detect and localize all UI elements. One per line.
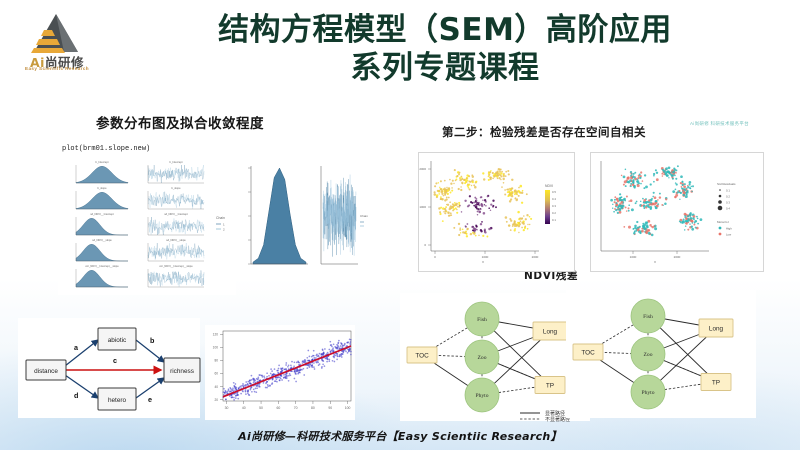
svg-text:Chain: Chain	[216, 216, 225, 220]
edge-label-d: d	[74, 391, 78, 400]
svg-text:80: 80	[214, 359, 218, 363]
slide-canvas: Ai尚研修 Easy Scientific Research 结构方程模型（SE…	[0, 0, 800, 450]
svg-text:sd_NDVI__slope: sd_NDVI__slope	[166, 238, 186, 242]
svg-text:High: High	[726, 227, 732, 231]
svg-text:100: 100	[213, 346, 219, 350]
logo-tagline: Easy Scientific Research	[18, 66, 96, 71]
right-section-heading: 第二步：检验残差是否存在空间自相关	[442, 124, 646, 140]
svg-text:0.3: 0.3	[552, 204, 556, 208]
svg-text:40: 40	[214, 385, 218, 389]
svg-text:30: 30	[225, 406, 229, 410]
node-richness: richness	[170, 368, 194, 375]
svg-text:70: 70	[294, 406, 298, 410]
svg-text:90: 90	[328, 406, 332, 410]
node-hetero: hetero	[108, 397, 127, 404]
svg-text:40: 40	[242, 406, 246, 410]
svg-text:x: x	[654, 260, 656, 264]
svg-text:1000: 1000	[419, 205, 426, 209]
svg-text:0.2: 0.2	[726, 195, 730, 199]
svg-text:Phyto: Phyto	[641, 390, 654, 396]
richness-distance-scatter: 30405060708090100 20406080100120	[205, 325, 355, 420]
svg-text:0.2: 0.2	[552, 211, 556, 215]
svg-text:b_Intercept: b_Intercept	[96, 160, 109, 164]
svg-text:b_Intercept: b_Intercept	[170, 160, 183, 164]
svg-text:TOC: TOC	[415, 352, 429, 359]
svg-text:100: 100	[345, 406, 351, 410]
brms-plot-grid: b_Interceptb_Interceptb_slopeb_slopesd_N…	[58, 155, 236, 295]
svg-text:60: 60	[214, 372, 218, 376]
node-distance: distance	[34, 368, 58, 375]
edge-label-e: e	[148, 395, 152, 404]
page-title-line2: 系列专题课程	[100, 50, 790, 88]
node-abiotic: abiotic	[108, 337, 127, 344]
svg-text:b_slope: b_slope	[171, 186, 181, 190]
svg-text:Phyto: Phyto	[475, 393, 488, 399]
svg-text:显著路径: 显著路径	[545, 410, 565, 417]
svg-text:Zoo: Zoo	[477, 355, 486, 361]
svg-text:TOC: TOC	[581, 349, 595, 356]
watermark-text: Ai尚研修 科研技术服务平台	[690, 121, 749, 127]
edge-label-b: b	[150, 336, 155, 345]
svg-text:cor_NDVI__Intercept__slope: cor_NDVI__Intercept__slope	[85, 264, 119, 268]
svg-text:TP: TP	[712, 379, 720, 386]
posterior-density-plot	[238, 160, 310, 275]
path-analysis-diagram: distance abiotic hetero richness a b c d…	[18, 318, 200, 418]
svg-text:NDVI: NDVI	[545, 184, 553, 188]
brand-logo: Ai尚研修 Easy Scientific Research	[18, 8, 96, 80]
svg-text:1000: 1000	[482, 255, 489, 259]
svg-text:TP: TP	[546, 382, 554, 389]
left-section-heading: 参数分布图及拟合收敛程度	[96, 112, 264, 132]
svg-text:80: 80	[311, 406, 315, 410]
footer-brand-text: Ai尚研修—科研技术服务平台【Easy Scientiic Research】	[0, 428, 800, 444]
r-code-label: plot(brm01.slope.new)	[62, 145, 150, 153]
svg-text:0.4: 0.4	[726, 207, 730, 211]
svg-text:0.1: 0.1	[726, 189, 730, 193]
svg-text:2000: 2000	[532, 255, 539, 259]
svg-text:2000: 2000	[674, 255, 681, 259]
svg-text:sd_NDVI__slope: sd_NDVI__slope	[92, 238, 112, 242]
svg-text:Std Residuals: Std Residuals	[717, 182, 736, 186]
svg-text:Zoo: Zoo	[643, 352, 652, 358]
svg-text:sd_NDVI__Intercept: sd_NDVI__Intercept	[164, 212, 188, 216]
svg-text:60: 60	[276, 406, 280, 410]
svg-text:120: 120	[213, 332, 219, 336]
svg-text:0.4: 0.4	[552, 197, 556, 201]
svg-text:cor_NDVI__Intercept__slope: cor_NDVI__Intercept__slope	[159, 264, 193, 268]
svg-text:0.5: 0.5	[552, 190, 556, 194]
page-title-line1: 结构方程模型（SEM）高阶应用	[218, 12, 672, 48]
svg-text:2000: 2000	[419, 167, 426, 171]
residual-cluster-map: 10002000 x Std Residuals0.10.20.30.4 Mor…	[590, 152, 764, 272]
svg-text:Fish: Fish	[477, 317, 487, 323]
brms-chain-legend: Chain 1 2	[216, 216, 225, 232]
svg-text:Long: Long	[709, 325, 724, 332]
svg-text:20: 20	[214, 398, 218, 402]
svg-text:Long: Long	[543, 328, 558, 335]
ndvi-spatial-map: 010002000 010002000 x NDVI 0.50.40.30.20…	[418, 152, 575, 272]
page-title: 结构方程模型（SEM）高阶应用 系列专题课程	[100, 12, 790, 88]
svg-text:b_slope: b_slope	[97, 186, 107, 190]
sem-diagram-left: FishZooPhytoTOCLongTP显著路径不显著路径	[400, 293, 590, 421]
sem-diagram-right: FishZooPhytoTOCLongTP	[566, 290, 756, 418]
svg-text:50: 50	[259, 406, 263, 410]
svg-text:0.1: 0.1	[552, 218, 556, 222]
svg-text:0.3: 0.3	[726, 201, 730, 205]
svg-text:Fish: Fish	[643, 314, 653, 320]
svg-text:sd_NDVI__Intercept: sd_NDVI__Intercept	[90, 212, 114, 216]
svg-text:1000: 1000	[630, 255, 637, 259]
edge-label-c: c	[113, 356, 117, 365]
svg-text:Chain: Chain	[360, 214, 368, 218]
svg-text:Moran's I: Moran's I	[717, 220, 729, 224]
edge-label-a: a	[74, 343, 79, 352]
svg-text:x: x	[482, 260, 484, 264]
mcmc-trace-plot: Chain	[312, 160, 368, 275]
